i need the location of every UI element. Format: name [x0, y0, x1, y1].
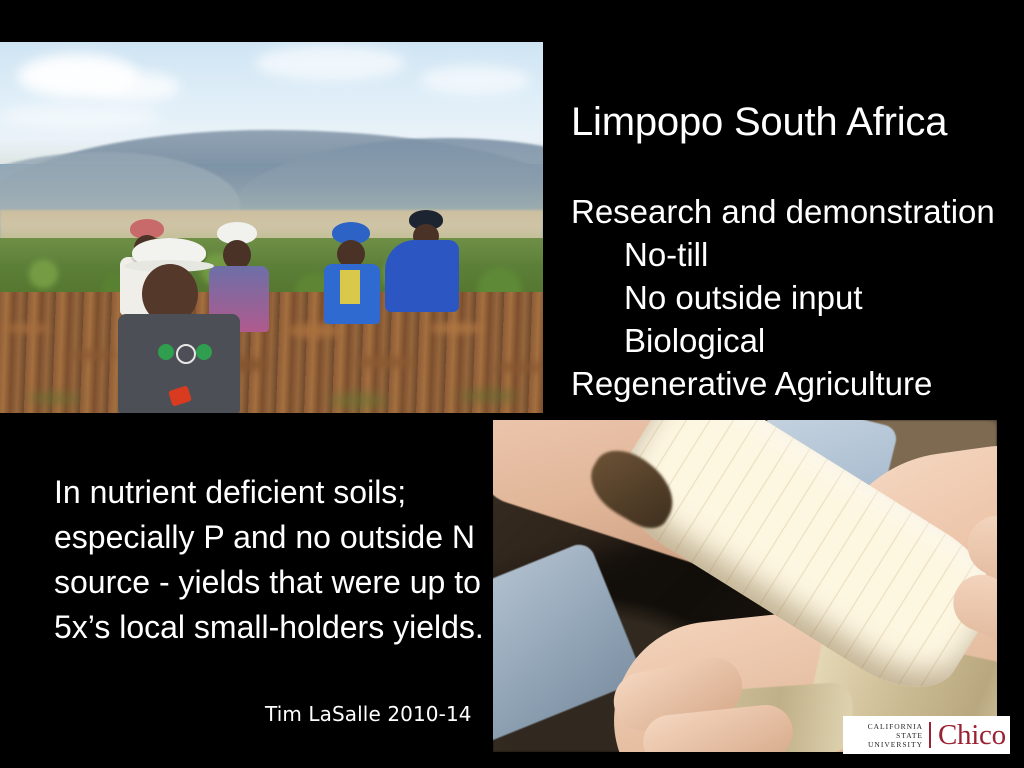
cloud [420, 66, 530, 94]
vest [340, 270, 360, 304]
shirt-logo [176, 344, 196, 364]
bullet-item: Regenerative Agriculture [571, 362, 1023, 405]
shirt-logo [158, 344, 174, 360]
farmer-figure [322, 222, 384, 322]
bullet-list: Research and demonstration No-till No ou… [571, 190, 1023, 405]
attribution-text: Tim LaSalle 2010-14 [265, 702, 495, 726]
sorghum-field-photo [0, 42, 543, 413]
logo-line-state: STATE [849, 731, 923, 740]
bullet-item: No outside input [571, 276, 1023, 319]
cloud [0, 104, 160, 130]
farmer-figure [385, 210, 463, 315]
torso [385, 240, 459, 312]
logo-line-university: UNIVERSITY [849, 740, 923, 749]
logo-line-california: CALIFORNIA [849, 722, 923, 731]
logo-divider [929, 722, 931, 748]
maize-cob-photo [493, 420, 997, 752]
cloud [90, 72, 180, 102]
logo-chico-wordmark: Chico [938, 720, 1006, 750]
bullet-item: Biological [571, 319, 1023, 362]
bullet-item: Research and demonstration [571, 190, 1023, 233]
csu-chico-logo: CALIFORNIA STATE UNIVERSITY Chico [843, 716, 1010, 754]
csu-wordmark-lines: CALIFORNIA STATE UNIVERSITY [849, 722, 929, 749]
caption-text: In nutrient deficient soils; especially … [54, 470, 484, 650]
slide: Limpopo South Africa Research and demons… [0, 0, 1024, 768]
bullet-item: No-till [571, 233, 1023, 276]
slide-title: Limpopo South Africa [571, 100, 1021, 144]
farmer-foreground [118, 238, 248, 413]
cloud [255, 46, 405, 80]
shirt-logo [196, 344, 212, 360]
